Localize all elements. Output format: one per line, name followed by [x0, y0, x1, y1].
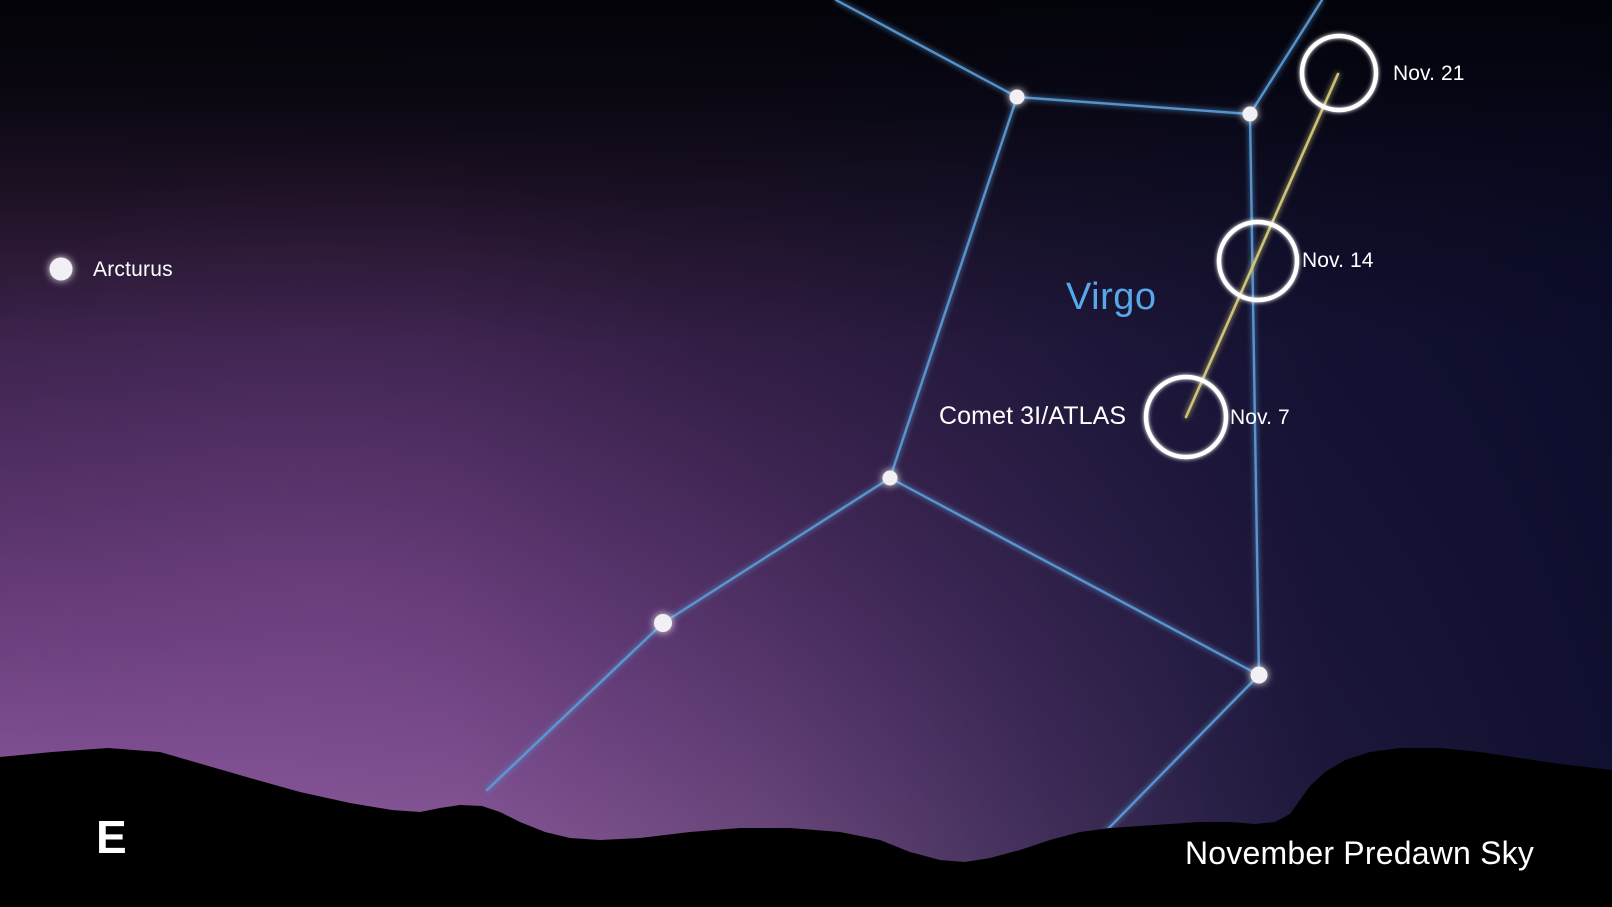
constellation-line-segment: [663, 478, 890, 623]
horizon-silhouette: [0, 748, 1612, 907]
star-node: [1251, 667, 1268, 684]
constellation-line-segment: [890, 478, 1259, 675]
comet-marker-nov-14: [1219, 222, 1297, 300]
star-label-arcturus: Arcturus: [93, 259, 173, 280]
constellation-label-virgo: Virgo: [1066, 276, 1157, 319]
star-node: [654, 614, 672, 632]
chart-caption: November Predawn Sky: [1185, 835, 1534, 872]
comet-name-label: Comet 3I/ATLAS: [939, 404, 1126, 429]
star-node: [1243, 107, 1258, 122]
constellation-line-segment: [836, 0, 1017, 97]
star-arcturus-dot: [50, 258, 73, 281]
constellation-line-segment: [487, 623, 663, 790]
constellation-line-segment: [1017, 97, 1250, 114]
constellation-line-segment: [1105, 675, 1259, 832]
star-node: [1010, 90, 1025, 105]
comet-date-label-nov-14: Nov. 14: [1302, 250, 1374, 271]
comet-path-line: [1186, 74, 1338, 417]
comet-date-label-nov-21: Nov. 21: [1393, 63, 1465, 84]
constellation-line-segment: [1250, 114, 1259, 675]
compass-direction-label: E: [96, 810, 127, 864]
constellation-stars: [654, 90, 1268, 684]
comet-date-label-nov-7: Nov. 7: [1230, 407, 1290, 428]
star-node: [883, 471, 898, 486]
chart-vector-layer: [0, 0, 1612, 907]
comet-marker-nov-21: [1302, 36, 1376, 110]
star-chart-image: Arcturus Virgo Comet 3I/ATLAS Nov. 7 Nov…: [0, 0, 1612, 907]
constellation-lines-virgo: [487, 0, 1322, 832]
